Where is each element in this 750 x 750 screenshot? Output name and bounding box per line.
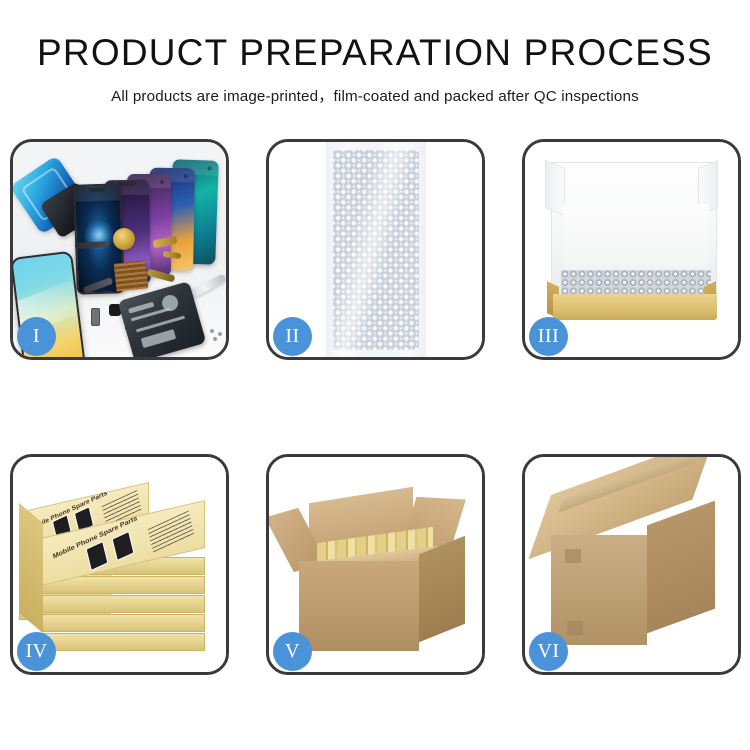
carton-flap-seam-icon-1	[565, 549, 581, 563]
foam-sheet-icon	[563, 204, 709, 278]
step-panel-6[interactable]: VI	[522, 454, 741, 675]
plastic-gloss-overlay	[333, 142, 419, 357]
box-lid-flap-left-icon	[545, 160, 565, 216]
stacked-box-icon	[41, 614, 205, 632]
step-badge-2: II	[273, 317, 312, 356]
box-front-panel-icon	[553, 294, 717, 320]
step-panel-4[interactable]: Mobile Phone Spare Parts Mobile Phone Sp…	[10, 454, 229, 675]
stack-side-shadow	[19, 503, 43, 633]
step-panel-3[interactable]: III	[522, 139, 741, 360]
connector-array-icon	[114, 260, 149, 291]
step-panel-2[interactable]: II	[266, 139, 485, 360]
step-badge-6: VI	[529, 632, 568, 671]
page-title: PRODUCT PREPARATION PROCESS	[0, 34, 750, 73]
header: PRODUCT PREPARATION PROCESS All products…	[0, 0, 750, 106]
step-panel-5[interactable]: V	[266, 454, 485, 675]
page-subtitle: All products are image-printed，film-coat…	[0, 84, 750, 106]
screen-thumbnail-icon	[86, 541, 109, 571]
stacked-box-icon	[41, 595, 205, 613]
step-badge-3: III	[529, 317, 568, 356]
carton-flap-seam-icon-2	[567, 621, 583, 635]
spec-text-lines	[148, 510, 195, 553]
step-badge-4: IV	[17, 632, 56, 671]
step-panel-1[interactable]: I	[10, 139, 229, 360]
screws-icon	[209, 328, 226, 342]
sim-tray-icon	[91, 308, 100, 326]
vibration-motor-icon	[113, 228, 135, 250]
carton-front-icon	[299, 561, 419, 651]
process-steps-grid: I II III	[10, 139, 740, 675]
screen-thumbnail-icon	[112, 531, 135, 561]
step-badge-5: V	[273, 632, 312, 671]
stacked-box-icon	[41, 633, 205, 651]
carton-side-icon	[419, 536, 465, 643]
step-badge-1: I	[17, 317, 56, 356]
